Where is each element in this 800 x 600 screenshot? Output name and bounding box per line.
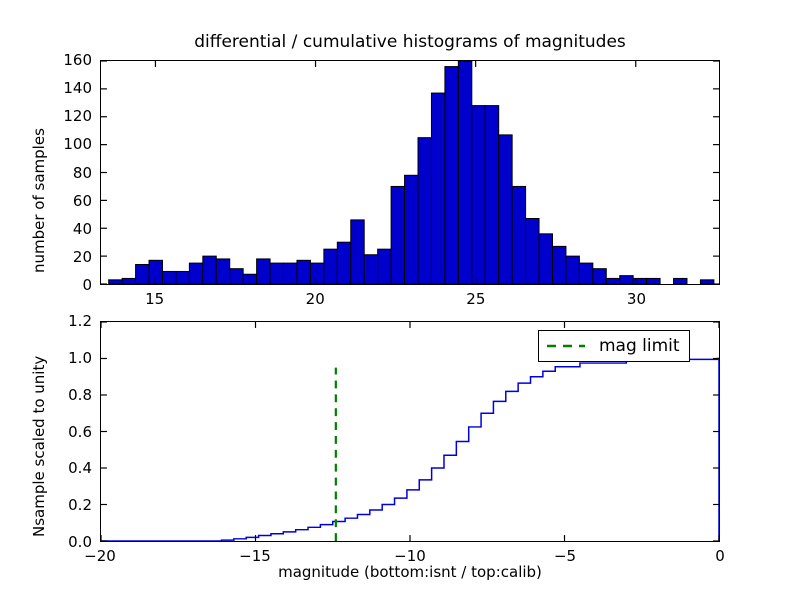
histogram-bar bbox=[552, 246, 565, 284]
bottom-panel-ytick-label: 0.4 bbox=[68, 459, 92, 477]
histogram-bar bbox=[620, 276, 633, 284]
bottom-panel-ytick-label: 1.2 bbox=[68, 312, 92, 330]
bottom-panel-ytick-label: 0.8 bbox=[68, 386, 92, 404]
histogram-bar bbox=[700, 280, 713, 284]
top-panel-ylabel: number of samples bbox=[30, 128, 48, 273]
histogram-bar bbox=[324, 249, 337, 284]
top-panel-ytick-label: 20 bbox=[73, 248, 92, 266]
bottom-panel-ytick-label: 0.6 bbox=[68, 423, 92, 441]
histogram-bar bbox=[593, 269, 606, 284]
differential-histogram-axes bbox=[100, 60, 720, 285]
top-panel-ytick-label: 100 bbox=[63, 135, 92, 153]
histogram-bar bbox=[445, 67, 458, 284]
histogram-bar bbox=[485, 106, 498, 284]
bottom-panel-xlabel: magnitude (bottom:isnt / top:calib) bbox=[100, 563, 720, 581]
bottom-panel-xtick-label: −20 bbox=[84, 547, 116, 565]
mag-limit-line-icon bbox=[546, 340, 586, 352]
top-panel-ytick-label: 60 bbox=[73, 192, 92, 210]
histogram-bar bbox=[136, 264, 149, 284]
histogram-bar bbox=[337, 242, 350, 284]
histogram-bar bbox=[189, 263, 202, 284]
legend: mag limit bbox=[538, 330, 690, 362]
top-panel-ytick-label: 40 bbox=[73, 220, 92, 238]
histogram-bar bbox=[647, 278, 660, 284]
top-panel-ytick-label: 160 bbox=[63, 51, 92, 69]
bottom-panel-xtick-label: 0 bbox=[715, 547, 725, 565]
cumulative-curve bbox=[101, 359, 719, 542]
histogram-bar bbox=[203, 256, 216, 284]
histogram-bar bbox=[216, 259, 229, 284]
top-panel-xtick-label: 30 bbox=[627, 290, 646, 308]
histogram-bar bbox=[606, 278, 619, 284]
histogram-bar bbox=[458, 61, 471, 284]
top-panel-ytick-label: 120 bbox=[63, 107, 92, 125]
bottom-panel-ylabel: Nsample scaled to unity bbox=[30, 356, 48, 537]
histogram-bar bbox=[284, 263, 297, 284]
bottom-panel-ytick-label: 1.0 bbox=[68, 349, 92, 367]
top-panel-xtick-label: 20 bbox=[306, 290, 325, 308]
top-panel-xtick-label: 15 bbox=[145, 290, 164, 308]
histogram-bar bbox=[566, 256, 579, 284]
histogram-bar bbox=[526, 218, 539, 284]
top-panel-ytick-label: 140 bbox=[63, 79, 92, 97]
matplotlib-figure: differential / cumulative histograms of … bbox=[0, 0, 800, 600]
top-panel-ytick-label: 0 bbox=[82, 276, 92, 294]
bottom-panel-ytick-label: 0.2 bbox=[68, 496, 92, 514]
top-panel-xtick-label: 25 bbox=[466, 290, 485, 308]
histogram-bar bbox=[257, 259, 270, 284]
histogram-bar bbox=[378, 249, 391, 284]
histogram-bar bbox=[431, 93, 444, 284]
page-title: differential / cumulative histograms of … bbox=[100, 32, 720, 52]
histogram-bar bbox=[243, 274, 256, 284]
histogram-bar bbox=[418, 138, 431, 284]
histogram-bar bbox=[297, 260, 310, 284]
histogram-bar bbox=[162, 271, 175, 284]
bottom-panel-xtick-label: −5 bbox=[554, 547, 576, 565]
histogram-bar bbox=[472, 106, 485, 284]
histogram-bar bbox=[351, 220, 364, 284]
histogram-bar bbox=[674, 278, 687, 284]
histogram-bar bbox=[176, 271, 189, 284]
histogram-bar bbox=[122, 278, 135, 284]
histogram-bar bbox=[230, 269, 243, 284]
histogram-bar bbox=[512, 186, 525, 284]
histogram-bar bbox=[270, 263, 283, 284]
histogram-bar bbox=[579, 263, 592, 284]
legend-label-mag-limit: mag limit bbox=[599, 336, 680, 356]
histogram-bar bbox=[391, 186, 404, 284]
histogram-bar bbox=[364, 255, 377, 284]
histogram-bar bbox=[109, 280, 122, 284]
bottom-panel-xtick-label: −10 bbox=[394, 547, 426, 565]
differential-histogram-plot bbox=[101, 61, 719, 284]
histogram-bar bbox=[310, 263, 323, 284]
histogram-bar bbox=[405, 175, 418, 284]
histogram-bar bbox=[539, 234, 552, 284]
histogram-bar bbox=[499, 135, 512, 284]
bottom-panel-xtick-label: −15 bbox=[239, 547, 271, 565]
top-panel-ytick-label: 80 bbox=[73, 164, 92, 182]
